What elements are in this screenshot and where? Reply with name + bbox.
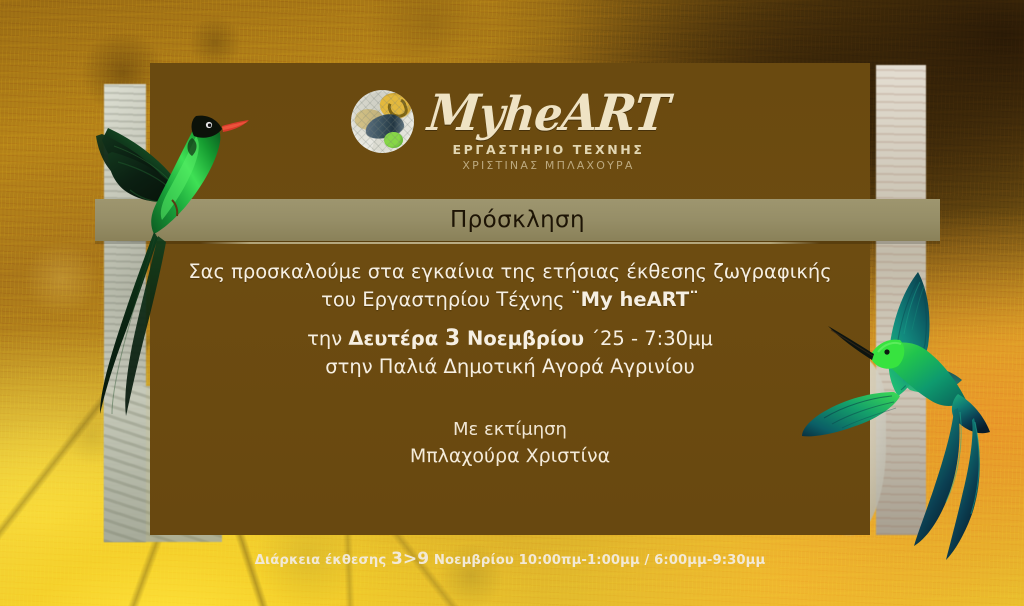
when-prefix: την (307, 327, 348, 350)
invitation-line-1: Σας προσκαλούμε στα εγκαίνια της ετήσιας… (150, 258, 870, 286)
invitation-card: MyheART ΕΡΓΑΣΤΗΡΙΟ ΤΕΧΝΗΣ ΧΡΙΣΤΙΝΑΣ ΜΠΛΑ… (150, 63, 870, 535)
signature-name: Μπλαχούρα Χριστίνα (150, 443, 870, 469)
logo-wordmark: MyheART ΕΡΓΑΣΤΗΡΙΟ ΤΕΧΝΗΣ ΧΡΙΣΤΙΝΑΣ ΜΠΛΑ… (428, 90, 668, 172)
invitation-line-2: του Εργαστηρίου Τέχνης ¨My heART¨ (150, 286, 870, 314)
event-venue: στην Παλιά Δημοτική Αγορά Αγρινίου (150, 353, 870, 381)
brand-name: MyheART (426, 91, 671, 138)
duration-dates: 3>9 (391, 549, 429, 569)
signature-regards: Με εκτίμηση (150, 417, 870, 443)
banner-shadow (95, 241, 940, 244)
exhibition-duration: Διάρκεια έκθεσης 3>9 Νοεμβρίου 10:00πμ-1… (150, 549, 870, 569)
invitation-line-2-prefix: του Εργαστηρίου Τέχνης (321, 288, 571, 311)
logo-subtitle-workshop: ΕΡΓΑΣΤΗΡΙΟ ΤΕΧΝΗΣ (452, 142, 644, 157)
invitation-line-2-brand: ¨My heART¨ (571, 288, 699, 311)
when-month: Νοεμβρίου (467, 327, 584, 350)
duration-label: Διάρκεια έκθεσης (255, 553, 391, 568)
when-suffix: ΄25 - 7:30μμ (584, 327, 713, 350)
duration-hours: 10:00πμ-1:00μμ / 6:00μμ-9:30μμ (519, 553, 766, 568)
myheart-emblem-icon (351, 90, 414, 153)
logo-block: MyheART ΕΡΓΑΣΤΗΡΙΟ ΤΕΧΝΗΣ ΧΡΙΣΤΙΝΑΣ ΜΠΛΑ… (150, 90, 870, 172)
brand-art: ART (559, 84, 672, 142)
invitation-banner: Πρόσκληση (95, 199, 940, 241)
brand-m: M (425, 84, 482, 142)
when-date: 3 (445, 326, 460, 351)
when-day: Δευτέρα (348, 327, 438, 350)
duration-month: Νοεμβρίου (429, 553, 518, 568)
logo-subtitle-owner: ΧΡΙΣΤΙΝΑΣ ΜΠΛΑΧΟΥΡΑ (462, 159, 634, 172)
invitation-body: Σας προσκαλούμε στα εγκαίνια της ετήσιας… (150, 258, 870, 469)
poster-canvas: MyheART ΕΡΓΑΣΤΗΡΙΟ ΤΕΧΝΗΣ ΧΡΙΣΤΙΝΑΣ ΜΠΛΑ… (0, 0, 1024, 606)
emblem-crosshatch-texture (351, 90, 414, 153)
banner-title: Πρόσκληση (450, 207, 585, 233)
brand-he: he (501, 87, 565, 141)
event-datetime: την Δευτέρα 3 Νοεμβρίου ΄25 - 7:30μμ (150, 325, 870, 353)
